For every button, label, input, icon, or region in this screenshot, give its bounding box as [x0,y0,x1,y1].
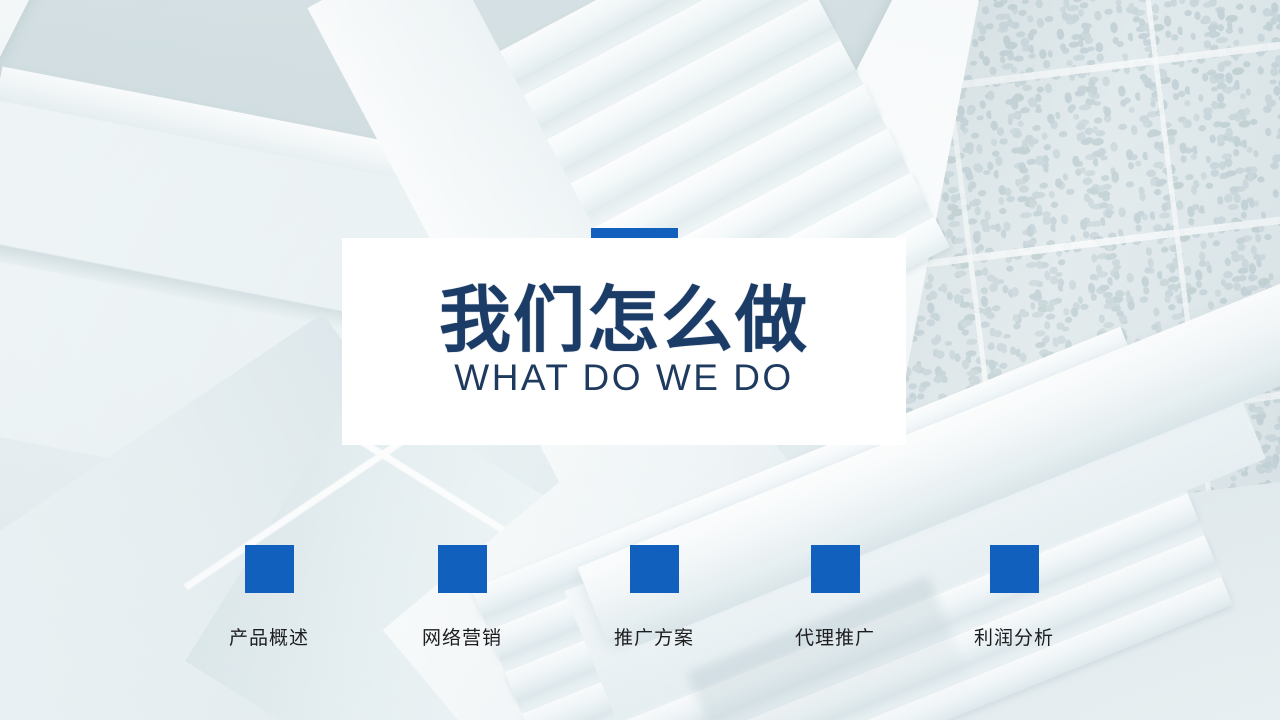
square-marker-icon [630,545,679,593]
nav-item-profit-analysis[interactable]: 利润分析 [944,545,1084,650]
section-nav: 产品概述 网络营销 推广方案 代理推广 利润分析 [0,545,1280,655]
nav-item-label: 利润分析 [974,623,1054,650]
square-marker-icon [990,545,1039,593]
title-card: 我们怎么做 WHAT DO WE DO [342,238,906,445]
page-subtitle: WHAT DO WE DO [454,359,793,398]
presentation-slide: 我们怎么做 WHAT DO WE DO 产品概述 网络营销 推广方案 代理推广 … [0,0,1280,720]
nav-item-label: 代理推广 [795,623,875,650]
nav-item-agency-promotion[interactable]: 代理推广 [765,545,905,650]
nav-item-promotion-plan[interactable]: 推广方案 [584,545,724,650]
square-marker-icon [245,545,294,593]
nav-item-label: 网络营销 [422,623,502,650]
square-marker-icon [438,545,487,593]
page-title: 我们怎么做 [439,285,809,357]
nav-item-product-overview[interactable]: 产品概述 [199,545,339,650]
nav-item-label: 推广方案 [614,623,694,650]
nav-item-label: 产品概述 [229,623,309,650]
nav-item-online-marketing[interactable]: 网络营销 [392,545,532,650]
square-marker-icon [811,545,860,593]
